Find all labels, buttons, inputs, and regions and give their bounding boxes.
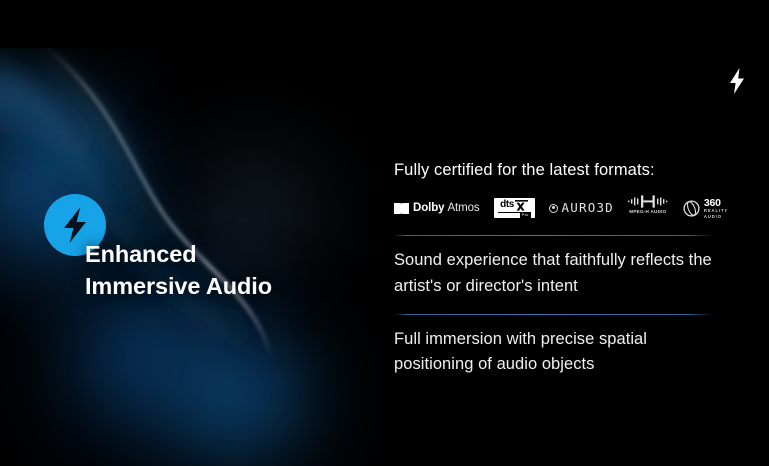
page-title: Enhanced Immersive Audio (85, 238, 272, 303)
360-reality-audio-label: 360 REALITY AUDIO (704, 198, 728, 219)
content-column: Fully certified for the latest formats: … (394, 160, 714, 378)
page-title-line2: Immersive Audio (85, 270, 272, 302)
dts-x-mark (515, 200, 528, 211)
360-orbit-mark (682, 199, 701, 218)
page-title-line1: Enhanced (85, 241, 197, 267)
dolby-atmos-logo: DolbyAtmos (394, 195, 480, 221)
background-glow-lower (140, 300, 340, 466)
feature-paragraph-1: Sound experience that faithfully reflect… (394, 248, 714, 299)
auro-3d-logo: AURO3D (549, 195, 614, 221)
360-number: 360 (704, 198, 728, 209)
auro-3d-label: AURO3D (562, 202, 614, 215)
divider-2 (394, 314, 714, 315)
feature-paragraph-2: Full immersion with precise spatial posi… (394, 327, 714, 378)
mpeg-h-audio-logo: MPEG-H AUDIO (628, 195, 668, 221)
audio-word: AUDIO (704, 215, 728, 219)
mpeg-h-equalizer-mark (628, 195, 668, 208)
certification-logo-row: DolbyAtmos dts Pro (394, 195, 714, 221)
360-reality-audio-logo: 360 REALITY AUDIO (682, 195, 728, 221)
lightning-bolt-icon (723, 66, 751, 96)
dts-pro-tag: Pro (520, 212, 531, 218)
top-letterbox-band (0, 0, 769, 48)
certification-headline: Fully certified for the latest formats: (394, 160, 714, 181)
slide-canvas: Enhanced Immersive Audio Fully certified… (0, 0, 769, 466)
mpeg-h-audio-label: MPEG-H AUDIO (629, 210, 666, 215)
auro-circle-mark (549, 204, 558, 213)
divider-1 (394, 235, 714, 236)
dolby-atmos-label: DolbyAtmos (413, 203, 480, 215)
dts-x-logo: dts Pro (494, 195, 535, 221)
atmos-word: Atmos (447, 202, 479, 214)
dts-word: dts (500, 200, 514, 210)
dolby-word: Dolby (413, 202, 444, 214)
